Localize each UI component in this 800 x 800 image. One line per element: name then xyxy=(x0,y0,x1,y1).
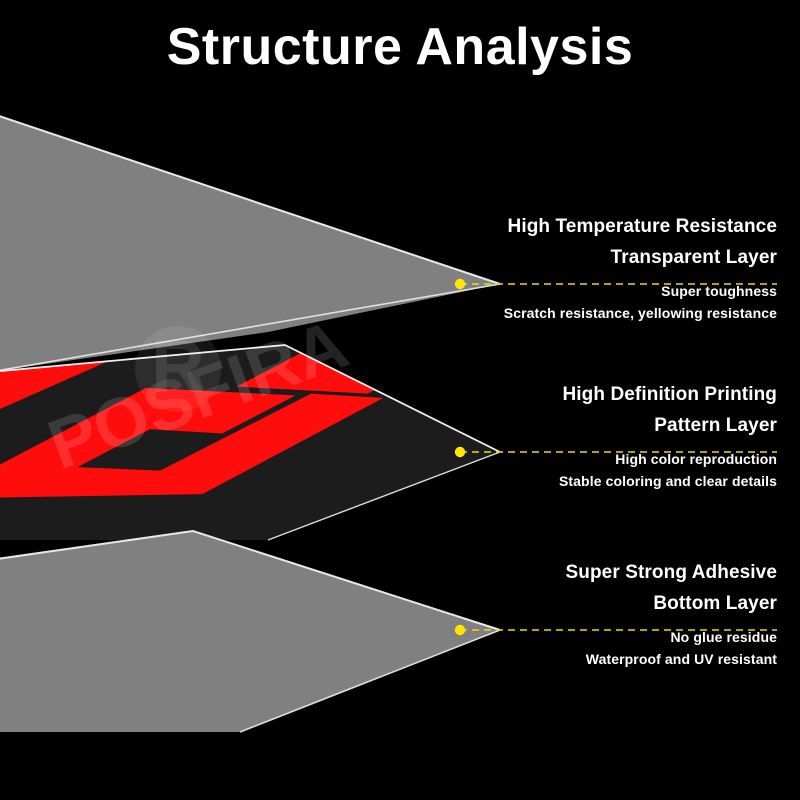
callout-feature: Scratch resistance, yellowing resistance xyxy=(217,302,777,325)
callout-features: No glue residue Waterproof and UV resist… xyxy=(217,626,777,671)
callout-heading-primary: High Temperature Resistance xyxy=(217,212,777,243)
callout-feature: Stable coloring and clear details xyxy=(217,470,777,493)
callout-heading-secondary: Bottom Layer xyxy=(217,589,777,620)
callout-heading-primary: High Definition Printing xyxy=(217,380,777,411)
structure-analysis-infographic: Structure Analysis xyxy=(0,0,800,800)
callout-heading-secondary: Pattern Layer xyxy=(217,411,777,442)
callout-heading-secondary: Transparent Layer xyxy=(217,243,777,274)
callout-heading-primary: Super Strong Adhesive xyxy=(217,558,777,589)
callout-bottom-layer: Super Strong Adhesive Bottom Layer No gl… xyxy=(217,558,777,671)
callout-features: High color reproduction Stable coloring … xyxy=(217,448,777,493)
callout-transparent-layer: High Temperature Resistance Transparent … xyxy=(217,212,777,325)
callout-feature: No glue residue xyxy=(217,626,777,649)
callout-feature: High color reproduction xyxy=(217,448,777,471)
callout-pattern-layer: High Definition Printing Pattern Layer H… xyxy=(217,380,777,493)
callout-feature: Waterproof and UV resistant xyxy=(217,648,777,671)
callout-feature: Super toughness xyxy=(217,280,777,303)
callout-features: Super toughness Scratch resistance, yell… xyxy=(217,280,777,325)
